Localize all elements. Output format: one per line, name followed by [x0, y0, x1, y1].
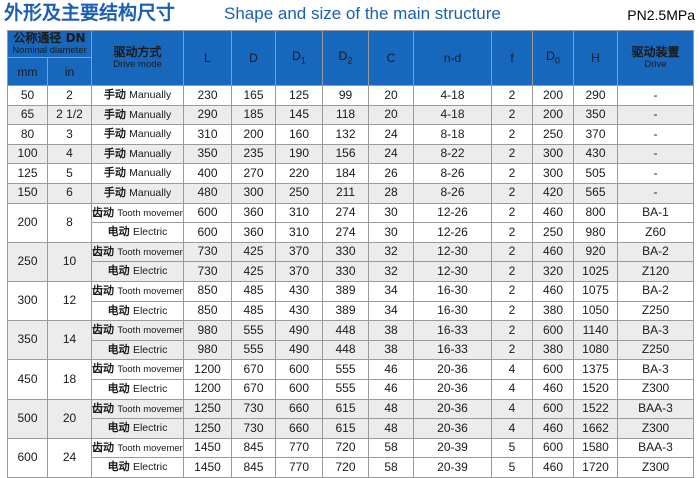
cell-drive: BA-2: [618, 281, 694, 301]
cell-drive-mode: 齿动 Tooth movement: [92, 399, 184, 419]
cell-dn-mm: 100: [8, 144, 48, 164]
cell-dn-mm: 200: [8, 203, 48, 242]
table-row: 电动 Electric14508457707205820-3954601720Z…: [8, 458, 694, 478]
table-row: 电动 Electric6003603102743012-262250980Z60: [8, 223, 694, 243]
cell-D1: 490: [276, 340, 323, 360]
cell-nd: 4-18: [414, 105, 492, 125]
cell-nd: 12-30: [414, 242, 492, 262]
cell-dn-in: 20: [48, 399, 92, 438]
table-row: 60024齿动 Tooth movement14508457707205820-…: [8, 438, 694, 458]
header-drive-mode-cn: 驱动方式: [92, 46, 183, 59]
cell-nd: 20-39: [414, 458, 492, 478]
header-drive-mode-en: Drive mode: [92, 59, 183, 70]
drive-mode-cn: 齿动: [92, 360, 114, 378]
drive-mode-cn: 电动: [108, 458, 130, 476]
cell-D0: 460: [533, 242, 574, 262]
cell-L: 290: [184, 105, 232, 125]
spec-sheet-page: 外形及主要结构尺寸 Shape and size of the main str…: [0, 0, 700, 440]
cell-drive: BA-1: [618, 203, 694, 223]
cell-C: 46: [369, 379, 414, 399]
cell-L: 1200: [184, 360, 232, 380]
header-col-D2-sub: 2: [347, 55, 352, 65]
cell-drive-mode: 手动 Manually: [92, 105, 184, 125]
cell-nd: 12-30: [414, 262, 492, 282]
header-drive-device-en: Drive: [618, 59, 693, 70]
drive-mode-en: Tooth movement: [117, 244, 183, 262]
cell-f: 5: [492, 458, 533, 478]
cell-H: 1522: [574, 399, 618, 419]
cell-C: 24: [369, 144, 414, 164]
cell-L: 600: [184, 203, 232, 223]
cell-drive-mode: 电动 Electric: [92, 419, 184, 439]
cell-L: 980: [184, 340, 232, 360]
cell-D1: 145: [276, 105, 323, 125]
cell-D: 670: [232, 360, 276, 380]
cell-D0: 250: [533, 223, 574, 243]
drive-mode-cn: 齿动: [92, 321, 114, 339]
header-nominal-diameter-en: Nominal diameter: [8, 45, 91, 56]
cell-C: 48: [369, 419, 414, 439]
cell-nd: 20-36: [414, 419, 492, 439]
cell-f: 2: [492, 242, 533, 262]
cell-f: 2: [492, 223, 533, 243]
cell-L: 1250: [184, 419, 232, 439]
cell-f: 4: [492, 399, 533, 419]
cell-D1: 310: [276, 223, 323, 243]
drive-mode-en: Manually: [129, 146, 171, 164]
cell-H: 800: [574, 203, 618, 223]
cell-C: 34: [369, 281, 414, 301]
cell-nd: 16-30: [414, 281, 492, 301]
cell-D: 425: [232, 242, 276, 262]
cell-f: 2: [492, 301, 533, 321]
cell-nd: 16-33: [414, 340, 492, 360]
drive-mode-cn: 手动: [104, 106, 126, 124]
cell-f: 2: [492, 164, 533, 184]
table-row: 1004手动 Manually350235190156248-222300430…: [8, 144, 694, 164]
header-unit-mm: mm: [8, 58, 48, 86]
header-col-L: L: [184, 31, 232, 86]
cell-D: 270: [232, 164, 276, 184]
drive-mode-en: Tooth movement: [117, 322, 183, 340]
cell-D0: 600: [533, 321, 574, 341]
cell-D0: 460: [533, 203, 574, 223]
cell-D: 555: [232, 321, 276, 341]
cell-f: 4: [492, 419, 533, 439]
cell-dn-mm: 80: [8, 125, 48, 145]
cell-D2: 330: [323, 242, 369, 262]
title-bar: 外形及主要结构尺寸 Shape and size of the main str…: [0, 0, 700, 29]
cell-C: 48: [369, 399, 414, 419]
cell-L: 230: [184, 86, 232, 106]
cell-C: 46: [369, 360, 414, 380]
cell-drive-mode: 齿动 Tooth movement: [92, 281, 184, 301]
cell-D2: 389: [323, 281, 369, 301]
cell-drive: -: [618, 105, 694, 125]
header-nominal-diameter-cn: 公称通径 DN: [8, 32, 91, 45]
table-row: 电动 Electric9805554904483816-3323801080Z2…: [8, 340, 694, 360]
cell-f: 4: [492, 360, 533, 380]
drive-mode-cn: 电动: [108, 223, 130, 241]
cell-drive: -: [618, 183, 694, 203]
drive-mode-en: Tooth movement: [117, 205, 183, 223]
cell-D2: 555: [323, 379, 369, 399]
cell-dn-in: 4: [48, 144, 92, 164]
cell-f: 2: [492, 144, 533, 164]
cell-H: 1720: [574, 458, 618, 478]
cell-D1: 770: [276, 438, 323, 458]
cell-dn-in: 18: [48, 360, 92, 399]
cell-D0: 380: [533, 301, 574, 321]
cell-drive: Z250: [618, 340, 694, 360]
cell-dn-mm: 250: [8, 242, 48, 281]
cell-D0: 380: [533, 340, 574, 360]
cell-D1: 430: [276, 281, 323, 301]
cell-drive-mode: 电动 Electric: [92, 301, 184, 321]
cell-drive-mode: 齿动 Tooth movement: [92, 321, 184, 341]
cell-D1: 220: [276, 164, 323, 184]
table-row: 1255手动 Manually400270220184268-262300505…: [8, 164, 694, 184]
header-col-D: D: [232, 31, 276, 86]
drive-mode-cn: 齿动: [92, 204, 114, 222]
cell-D1: 250: [276, 183, 323, 203]
cell-C: 20: [369, 86, 414, 106]
cell-drive: BA-3: [618, 321, 694, 341]
cell-D0: 600: [533, 399, 574, 419]
cell-D1: 600: [276, 360, 323, 380]
cell-H: 430: [574, 144, 618, 164]
cell-f: 2: [492, 203, 533, 223]
cell-D0: 200: [533, 105, 574, 125]
cell-D0: 420: [533, 183, 574, 203]
cell-D2: 274: [323, 223, 369, 243]
cell-H: 350: [574, 105, 618, 125]
cell-dn-in: 10: [48, 242, 92, 281]
cell-dn-in: 2: [48, 86, 92, 106]
cell-D: 235: [232, 144, 276, 164]
cell-D1: 430: [276, 301, 323, 321]
cell-dn-in: 24: [48, 438, 92, 477]
cell-nd: 20-36: [414, 399, 492, 419]
drive-mode-en: Manually: [129, 165, 171, 183]
cell-drive: Z300: [618, 379, 694, 399]
cell-D: 425: [232, 262, 276, 282]
cell-L: 350: [184, 144, 232, 164]
cell-drive-mode: 电动 Electric: [92, 262, 184, 282]
cell-H: 980: [574, 223, 618, 243]
drive-mode-en: Electric: [133, 224, 167, 242]
cell-H: 1025: [574, 262, 618, 282]
cell-L: 1450: [184, 458, 232, 478]
cell-f: 4: [492, 379, 533, 399]
cell-H: 1375: [574, 360, 618, 380]
cell-C: 28: [369, 183, 414, 203]
drive-mode-en: Electric: [133, 303, 167, 321]
table-row: 电动 Electric7304253703303212-3023201025Z1…: [8, 262, 694, 282]
cell-drive: Z300: [618, 419, 694, 439]
cell-nd: 8-26: [414, 164, 492, 184]
cell-H: 565: [574, 183, 618, 203]
cell-D2: 274: [323, 203, 369, 223]
drive-mode-cn: 齿动: [92, 439, 114, 457]
cell-drive: -: [618, 86, 694, 106]
cell-D2: 720: [323, 438, 369, 458]
table-body: 502手动 Manually23016512599204-182200290-6…: [8, 86, 694, 478]
table-row: 502手动 Manually23016512599204-182200290-: [8, 86, 694, 106]
cell-drive-mode: 手动 Manually: [92, 183, 184, 203]
cell-drive: BAA-3: [618, 399, 694, 419]
cell-f: 2: [492, 125, 533, 145]
cell-D0: 600: [533, 360, 574, 380]
drive-mode-en: Electric: [133, 420, 167, 438]
cell-f: 2: [492, 105, 533, 125]
cell-drive-mode: 齿动 Tooth movement: [92, 242, 184, 262]
drive-mode-en: Manually: [129, 185, 171, 203]
cell-nd: 12-26: [414, 223, 492, 243]
cell-D: 845: [232, 458, 276, 478]
cell-dn-in: 6: [48, 183, 92, 203]
specification-table: 公称通径 DN Nominal diameter 驱动方式 Drive mode…: [7, 30, 694, 478]
cell-drive-mode: 齿动 Tooth movement: [92, 360, 184, 380]
cell-D2: 184: [323, 164, 369, 184]
cell-D2: 448: [323, 321, 369, 341]
cell-drive: Z300: [618, 458, 694, 478]
cell-C: 34: [369, 301, 414, 321]
cell-nd: 16-33: [414, 321, 492, 341]
table-row: 652 1/2手动 Manually290185145118204-182200…: [8, 105, 694, 125]
cell-dn-mm: 450: [8, 360, 48, 399]
cell-drive: -: [618, 125, 694, 145]
cell-D1: 770: [276, 458, 323, 478]
header-col-f: f: [492, 31, 533, 86]
cell-D: 165: [232, 86, 276, 106]
cell-C: 24: [369, 125, 414, 145]
cell-D1: 370: [276, 262, 323, 282]
header-drive-device-cn: 驱动装置: [618, 46, 693, 59]
cell-drive-mode: 齿动 Tooth movement: [92, 438, 184, 458]
cell-D: 300: [232, 183, 276, 203]
cell-H: 1520: [574, 379, 618, 399]
cell-D: 555: [232, 340, 276, 360]
cell-D1: 600: [276, 379, 323, 399]
header-col-D0: D0: [533, 31, 574, 86]
table-row: 803手动 Manually310200160132248-182250370-: [8, 125, 694, 145]
cell-L: 310: [184, 125, 232, 145]
cell-dn-in: 8: [48, 203, 92, 242]
cell-dn-in: 3: [48, 125, 92, 145]
cell-C: 38: [369, 321, 414, 341]
cell-D0: 200: [533, 86, 574, 106]
cell-L: 730: [184, 242, 232, 262]
cell-drive: Z120: [618, 262, 694, 282]
cell-L: 1250: [184, 399, 232, 419]
cell-D1: 490: [276, 321, 323, 341]
cell-D0: 600: [533, 438, 574, 458]
cell-H: 1080: [574, 340, 618, 360]
drive-mode-cn: 电动: [108, 419, 130, 437]
cell-D2: 389: [323, 301, 369, 321]
drive-mode-en: Manually: [129, 126, 171, 144]
header-col-nd: n-d: [414, 31, 492, 86]
drive-mode-cn: 手动: [104, 145, 126, 163]
cell-D2: 330: [323, 262, 369, 282]
cell-L: 480: [184, 183, 232, 203]
cell-H: 505: [574, 164, 618, 184]
drive-mode-en: Manually: [129, 107, 171, 125]
cell-dn-mm: 65: [8, 105, 48, 125]
drive-mode-en: Tooth movement: [117, 401, 183, 419]
table-row: 电动 Electric12507306606154820-3644601662Z…: [8, 419, 694, 439]
cell-dn-in: 2 1/2: [48, 105, 92, 125]
cell-dn-in: 12: [48, 281, 92, 320]
drive-mode-cn: 手动: [104, 86, 126, 104]
drive-mode-en: Tooth movement: [117, 361, 183, 379]
cell-dn-mm: 150: [8, 183, 48, 203]
table-row: 35014齿动 Tooth movement9805554904483816-3…: [8, 321, 694, 341]
cell-H: 920: [574, 242, 618, 262]
cell-drive: -: [618, 144, 694, 164]
pressure-rating-label: PN2.5MPa: [627, 6, 695, 24]
cell-C: 30: [369, 223, 414, 243]
table-row: 25010齿动 Tooth movement7304253703303212-3…: [8, 242, 694, 262]
cell-D1: 125: [276, 86, 323, 106]
cell-D2: 555: [323, 360, 369, 380]
cell-drive: Z60: [618, 223, 694, 243]
cell-D2: 615: [323, 399, 369, 419]
cell-f: 2: [492, 321, 533, 341]
cell-drive: Z250: [618, 301, 694, 321]
cell-H: 1050: [574, 301, 618, 321]
header-nominal-diameter: 公称通径 DN Nominal diameter: [8, 31, 92, 58]
header-col-C: C: [369, 31, 414, 86]
cell-dn-in: 14: [48, 321, 92, 360]
cell-D2: 211: [323, 183, 369, 203]
cell-nd: 20-39: [414, 438, 492, 458]
cell-drive-mode: 手动 Manually: [92, 144, 184, 164]
cell-drive-mode: 电动 Electric: [92, 223, 184, 243]
cell-drive: -: [618, 164, 694, 184]
cell-D0: 300: [533, 144, 574, 164]
cell-D: 360: [232, 203, 276, 223]
header-col-D2: D2: [323, 31, 369, 86]
cell-f: 2: [492, 262, 533, 282]
table-row: 1506手动 Manually480300250211288-262420565…: [8, 183, 694, 203]
cell-C: 38: [369, 340, 414, 360]
drive-mode-cn: 手动: [104, 184, 126, 202]
table-row: 45018齿动 Tooth movement12006706005554620-…: [8, 360, 694, 380]
cell-D1: 160: [276, 125, 323, 145]
table-row: 电动 Electric8504854303893416-3023801050Z2…: [8, 301, 694, 321]
cell-nd: 8-26: [414, 183, 492, 203]
drive-mode-cn: 手动: [104, 164, 126, 182]
cell-f: 5: [492, 438, 533, 458]
cell-D: 730: [232, 419, 276, 439]
cell-drive: BA-2: [618, 242, 694, 262]
cell-D: 845: [232, 438, 276, 458]
table-row: 50020齿动 Tooth movement12507306606154820-…: [8, 399, 694, 419]
header-col-H: H: [574, 31, 618, 86]
cell-C: 30: [369, 203, 414, 223]
page-title-cn: 外形及主要结构尺寸: [4, 1, 175, 25]
cell-D2: 720: [323, 458, 369, 478]
cell-dn-mm: 125: [8, 164, 48, 184]
cell-L: 730: [184, 262, 232, 282]
cell-D0: 460: [533, 379, 574, 399]
drive-mode-en: Manually: [129, 87, 171, 105]
cell-D0: 320: [533, 262, 574, 282]
cell-H: 290: [574, 86, 618, 106]
cell-drive: BAA-3: [618, 438, 694, 458]
cell-dn-in: 5: [48, 164, 92, 184]
cell-nd: 12-26: [414, 203, 492, 223]
header-drive-mode: 驱动方式 Drive mode: [92, 31, 184, 86]
header-drive-device: 驱动装置 Drive: [618, 31, 694, 86]
header-col-D1-sub: 1: [301, 55, 306, 65]
cell-f: 2: [492, 86, 533, 106]
cell-H: 1140: [574, 321, 618, 341]
cell-drive-mode: 手动 Manually: [92, 125, 184, 145]
cell-nd: 20-36: [414, 360, 492, 380]
cell-dn-mm: 300: [8, 281, 48, 320]
cell-L: 600: [184, 223, 232, 243]
cell-D0: 250: [533, 125, 574, 145]
cell-drive-mode: 齿动 Tooth movement: [92, 203, 184, 223]
drive-mode-en: Electric: [133, 381, 167, 399]
cell-D: 485: [232, 281, 276, 301]
cell-L: 980: [184, 321, 232, 341]
cell-D0: 300: [533, 164, 574, 184]
cell-nd: 16-30: [414, 301, 492, 321]
cell-D2: 132: [323, 125, 369, 145]
table-row: 2008齿动 Tooth movement6003603102743012-26…: [8, 203, 694, 223]
drive-mode-cn: 齿动: [92, 282, 114, 300]
drive-mode-cn: 齿动: [92, 243, 114, 261]
cell-H: 1662: [574, 419, 618, 439]
table-header: 公称通径 DN Nominal diameter 驱动方式 Drive mode…: [8, 31, 694, 86]
cell-drive-mode: 电动 Electric: [92, 340, 184, 360]
cell-nd: 8-22: [414, 144, 492, 164]
cell-D1: 660: [276, 419, 323, 439]
cell-drive-mode: 电动 Electric: [92, 458, 184, 478]
cell-H: 370: [574, 125, 618, 145]
cell-D2: 156: [323, 144, 369, 164]
cell-f: 2: [492, 183, 533, 203]
table-row: 30012齿动 Tooth movement8504854303893416-3…: [8, 281, 694, 301]
cell-D2: 448: [323, 340, 369, 360]
header-row-top: 公称通径 DN Nominal diameter 驱动方式 Drive mode…: [8, 31, 694, 58]
cell-D: 485: [232, 301, 276, 321]
cell-D0: 460: [533, 281, 574, 301]
cell-D2: 118: [323, 105, 369, 125]
cell-dn-mm: 600: [8, 438, 48, 477]
cell-D1: 190: [276, 144, 323, 164]
cell-L: 850: [184, 301, 232, 321]
cell-D: 185: [232, 105, 276, 125]
drive-mode-cn: 电动: [108, 341, 130, 359]
cell-L: 1450: [184, 438, 232, 458]
cell-dn-mm: 350: [8, 321, 48, 360]
cell-H: 1580: [574, 438, 618, 458]
cell-C: 32: [369, 262, 414, 282]
header-unit-in: in: [48, 58, 92, 86]
cell-drive-mode: 手动 Manually: [92, 164, 184, 184]
cell-D: 670: [232, 379, 276, 399]
header-col-D0-base: D: [546, 49, 555, 63]
cell-drive-mode: 电动 Electric: [92, 379, 184, 399]
cell-D: 360: [232, 223, 276, 243]
drive-mode-cn: 电动: [108, 302, 130, 320]
cell-drive: BA-3: [618, 360, 694, 380]
